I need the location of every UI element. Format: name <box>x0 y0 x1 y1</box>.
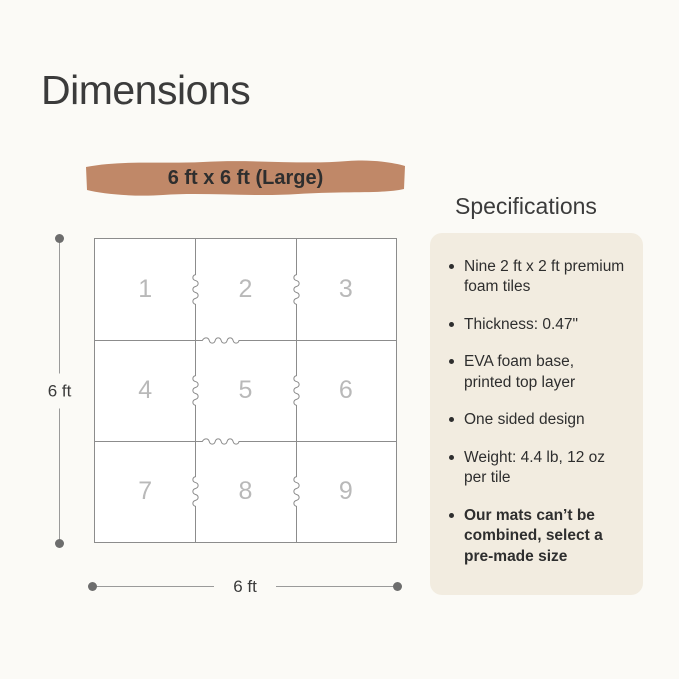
specifications-card: Nine 2 ft x 2 ft premium foam tiles Thic… <box>430 233 643 595</box>
mat-tile-number: 6 <box>339 376 353 405</box>
mat-grid: 1 2 3 4 5 6 7 8 9 <box>94 238 397 543</box>
mat-tile-number: 7 <box>138 477 152 506</box>
mat-tile: 1 <box>95 239 195 340</box>
mat-tile: 7 <box>95 441 195 542</box>
vertical-dimension-endpoint-top-icon <box>55 234 64 243</box>
vertical-dimension-endpoint-bottom-icon <box>55 539 64 548</box>
specifications-title: Specifications <box>455 193 597 220</box>
list-item: Thickness: 0.47" <box>448 315 625 335</box>
mat-tile-number: 8 <box>239 477 253 506</box>
list-item: Our mats can’t be combined, select a pre… <box>448 506 625 567</box>
mat-tile-number: 5 <box>239 376 253 405</box>
horizontal-dimension-endpoint-left-icon <box>88 582 97 591</box>
size-banner-label: 6 ft x 6 ft (Large) <box>83 158 408 198</box>
list-item: EVA foam base, printed top layer <box>448 352 625 393</box>
mat-tile: 6 <box>296 340 396 441</box>
mat-tile: 4 <box>95 340 195 441</box>
list-item: Nine 2 ft x 2 ft premium foam tiles <box>448 257 625 298</box>
vertical-dimension-label: 6 ft <box>30 374 89 409</box>
mat-tile: 9 <box>296 441 396 542</box>
vertical-dimension: 6 ft <box>30 232 90 550</box>
mat-grid-row: 1 2 3 <box>95 239 396 340</box>
mat-tile: 2 <box>195 239 295 340</box>
mat-tile-number: 2 <box>239 275 253 304</box>
mat-tile: 8 <box>195 441 295 542</box>
mat-tile-number: 9 <box>339 477 353 506</box>
mat-tile: 3 <box>296 239 396 340</box>
mat-tile-number: 4 <box>138 376 152 405</box>
horizontal-dimension-label: 6 ft <box>214 569 276 604</box>
list-item: One sided design <box>448 410 625 430</box>
size-banner: 6 ft x 6 ft (Large) <box>83 158 408 198</box>
horizontal-dimension: 6 ft <box>86 560 404 604</box>
mat-tile-number: 1 <box>138 275 152 304</box>
mat-tile: 5 <box>195 340 295 441</box>
horizontal-dimension-endpoint-right-icon <box>393 582 402 591</box>
mat-tile-number: 3 <box>339 275 353 304</box>
specifications-list: Nine 2 ft x 2 ft premium foam tiles Thic… <box>448 257 625 567</box>
mat-grid-row: 7 8 9 <box>95 441 396 542</box>
list-item: Weight: 4.4 lb, 12 oz per tile <box>448 448 625 489</box>
mat-grid-row: 4 5 6 <box>95 340 396 441</box>
page-title: Dimensions <box>41 67 250 114</box>
